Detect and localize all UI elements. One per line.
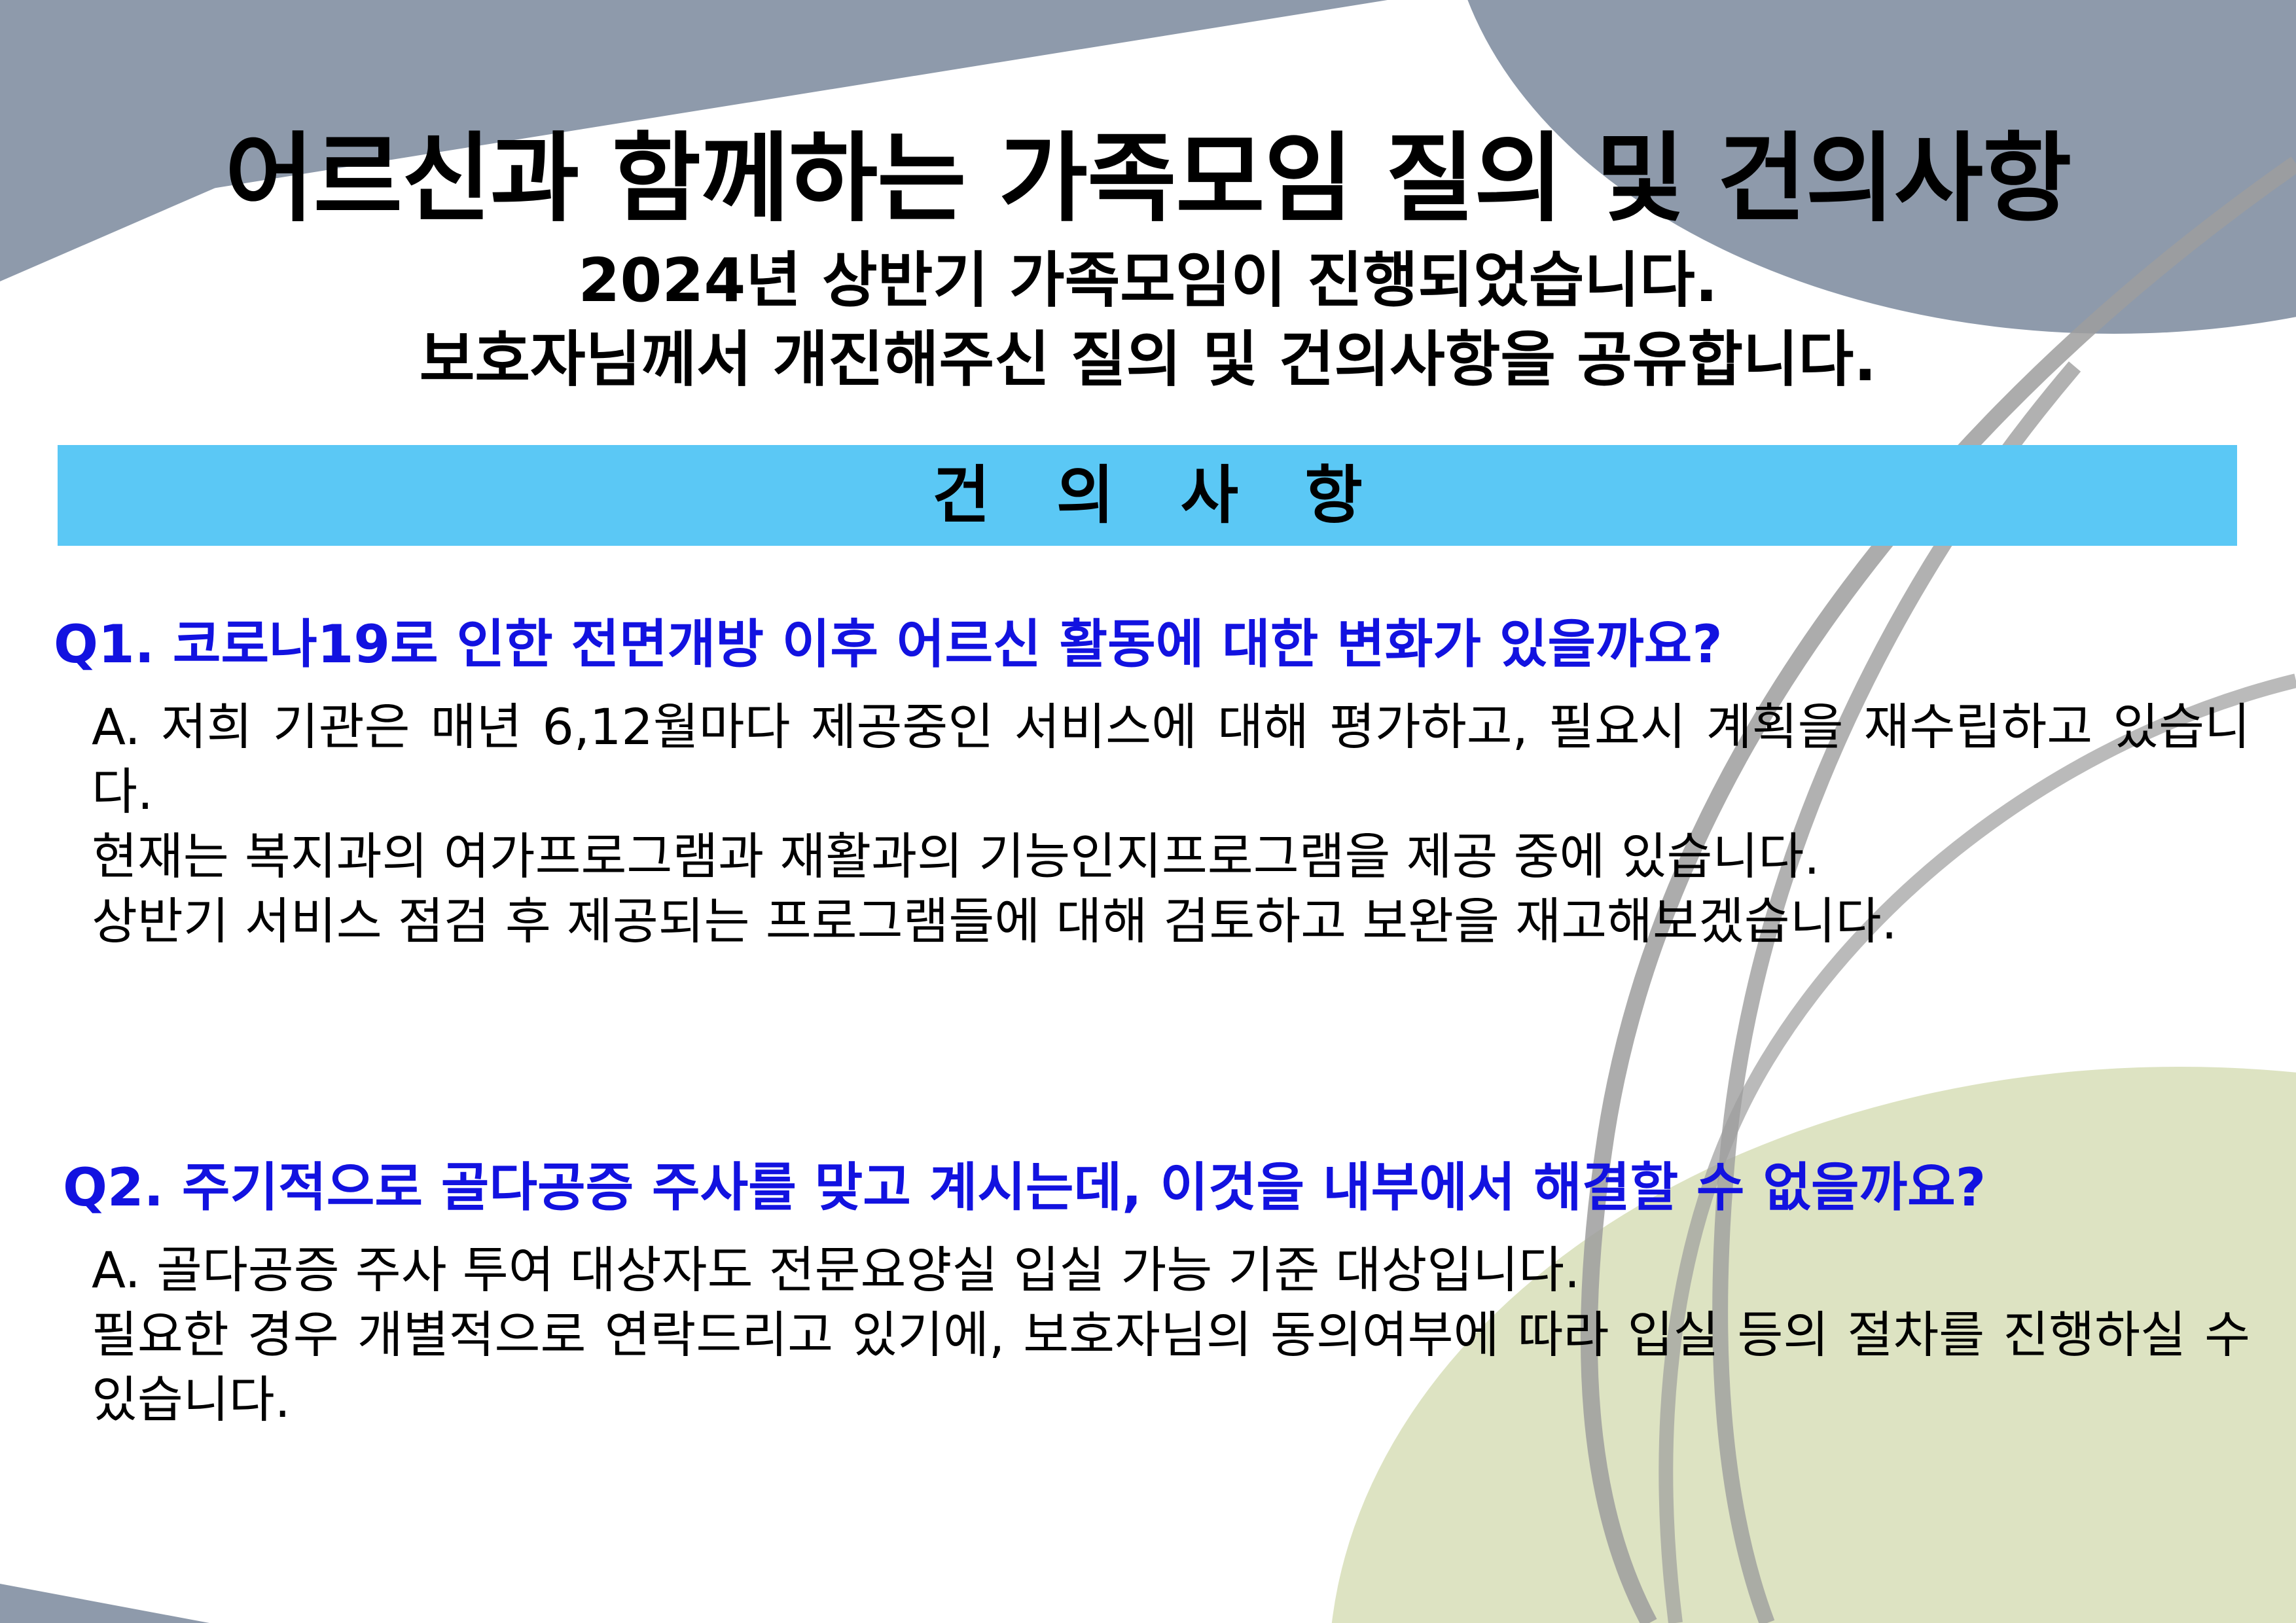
subtitle-line-2: 보호자님께서 개진해주신 질의 및 건의사항을 공유합니다. bbox=[0, 320, 2296, 399]
answer-2-body: A. 골다공증 주사 투여 대상자도 전문요양실 입실 가능 기준 대상입니다.… bbox=[0, 1238, 2296, 1432]
section-banner: 건 의 사 항 bbox=[58, 445, 2237, 546]
slide-canvas: 어르신과 함께하는 가족모임 질의 및 건의사항 2024년 상반기 가족모임이… bbox=[0, 0, 2296, 1623]
qa-item-2: Q2. 주기적으로 골다공증 주사를 맞고 계시는데, 이것을 내부에서 해결할… bbox=[0, 1157, 2296, 1433]
answer-1-line-2: 현재는 복지과의 여가프로그램과 재활과의 기능인지프로그램을 제공 중에 있습… bbox=[92, 825, 2250, 889]
answer-1-line-1: A. 저희 기관은 매년 6,12월마다 제공중인 서비스에 대해 평가하고, … bbox=[92, 695, 2250, 825]
answer-1-body: A. 저희 기관은 매년 6,12월마다 제공중인 서비스에 대해 평가하고, … bbox=[0, 695, 2296, 954]
answer-2-line-1: A. 골다공증 주사 투여 대상자도 전문요양실 입실 가능 기준 대상입니다. bbox=[92, 1238, 2250, 1303]
qa-item-1: Q1. 코로나19로 인한 전면개방 이후 어르신 활동에 대한 변화가 있을까… bbox=[0, 614, 2296, 954]
answer-2-line-2: 필요한 경우 개별적으로 연락드리고 있기에, 보호자님의 동의여부에 따라 입… bbox=[92, 1303, 2250, 1433]
answer-1-line-3: 상반기 서비스 점검 후 제공되는 프로그램들에 대해 검토하고 보완을 재고해… bbox=[92, 889, 2250, 954]
section-banner-label: 건 의 사 항 bbox=[910, 464, 1385, 527]
subtitle-line-1: 2024년 상반기 가족모임이 진행되었습니다. bbox=[0, 241, 2296, 320]
question-1-text: Q1. 코로나19로 인한 전면개방 이후 어르신 활동에 대한 변화가 있을까… bbox=[0, 614, 2296, 675]
question-2-text: Q2. 주기적으로 골다공증 주사를 맞고 계시는데, 이것을 내부에서 해결할… bbox=[0, 1157, 2296, 1219]
subtitle-block: 2024년 상반기 가족모임이 진행되었습니다. 보호자님께서 개진해주신 질의… bbox=[0, 241, 2296, 400]
page-title: 어르신과 함께하는 가족모임 질의 및 건의사항 bbox=[0, 125, 2296, 234]
